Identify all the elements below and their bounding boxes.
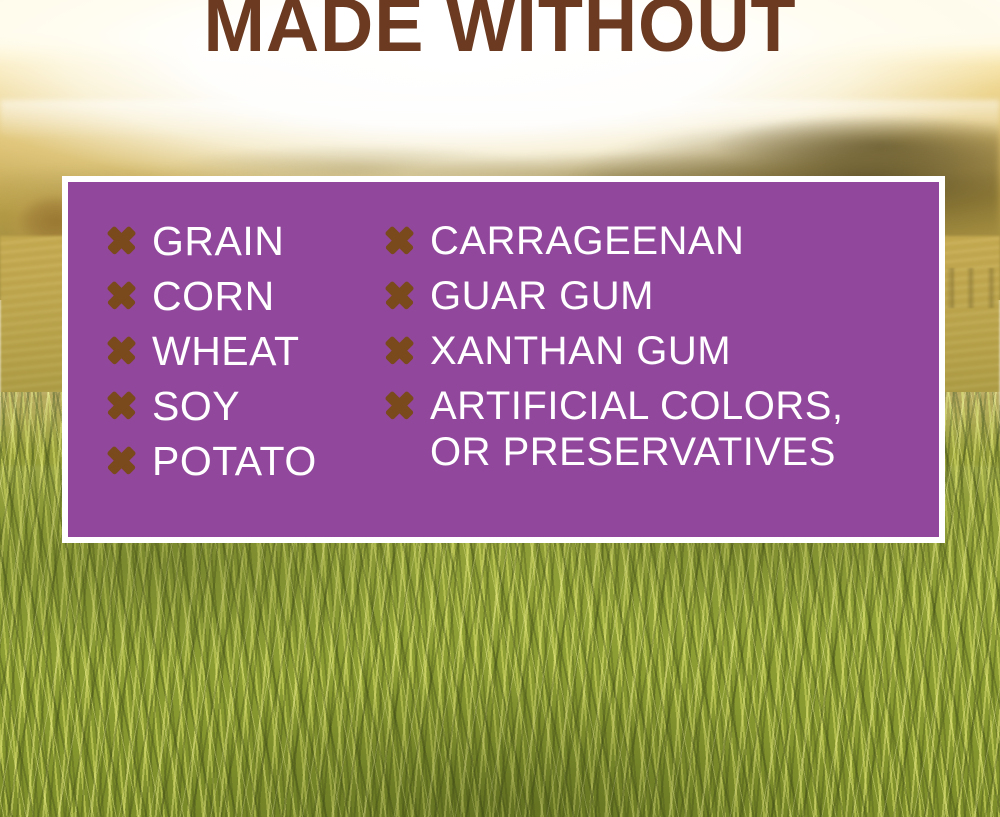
list-item: GUAR GUM	[384, 273, 939, 328]
list-item: GRAIN	[106, 218, 384, 273]
list-item: CORN	[106, 273, 384, 328]
list-item: XANTHAN GUM	[384, 328, 939, 383]
list-item: WHEAT	[106, 328, 384, 383]
left-column: GRAIN CORN WHEAT SOY POTATO	[106, 218, 384, 537]
claims-panel: GRAIN CORN WHEAT SOY POTATO	[68, 182, 939, 537]
list-item-label: XANTHAN GUM	[430, 328, 731, 374]
list-item: SOY	[106, 383, 384, 438]
list-item: POTATO	[106, 438, 384, 493]
x-mark-icon	[384, 335, 414, 365]
x-mark-icon	[384, 225, 414, 255]
list-item: ARTIFICIAL COLORS, OR PRESERVATIVES	[384, 383, 939, 475]
list-item-label: CARRAGEENAN	[430, 218, 744, 264]
x-mark-icon	[384, 390, 414, 420]
x-mark-icon	[106, 280, 136, 310]
product-claim-poster: MADE WITHOUT GRAIN CORN WHEAT	[0, 0, 1000, 817]
x-mark-icon	[106, 390, 136, 420]
x-mark-icon	[106, 335, 136, 365]
list-item-label: CORN	[152, 273, 275, 319]
list-item-label: SOY	[152, 383, 240, 429]
list-item-label: WHEAT	[152, 328, 300, 374]
right-column: CARRAGEENAN GUAR GUM XANTHAN GUM ARTIFIC…	[384, 218, 939, 537]
list-item-label: ARTIFICIAL COLORS, OR PRESERVATIVES	[430, 383, 844, 475]
list-item: CARRAGEENAN	[384, 218, 939, 273]
list-item-label: GRAIN	[152, 218, 284, 264]
claims-panel-frame: GRAIN CORN WHEAT SOY POTATO	[62, 176, 945, 543]
x-mark-icon	[106, 225, 136, 255]
list-item-label: POTATO	[152, 438, 317, 484]
fence-posts	[946, 268, 1000, 308]
page-title: MADE WITHOUT	[15, 0, 985, 69]
x-mark-icon	[384, 280, 414, 310]
x-mark-icon	[106, 445, 136, 475]
list-item-label: GUAR GUM	[430, 273, 654, 319]
